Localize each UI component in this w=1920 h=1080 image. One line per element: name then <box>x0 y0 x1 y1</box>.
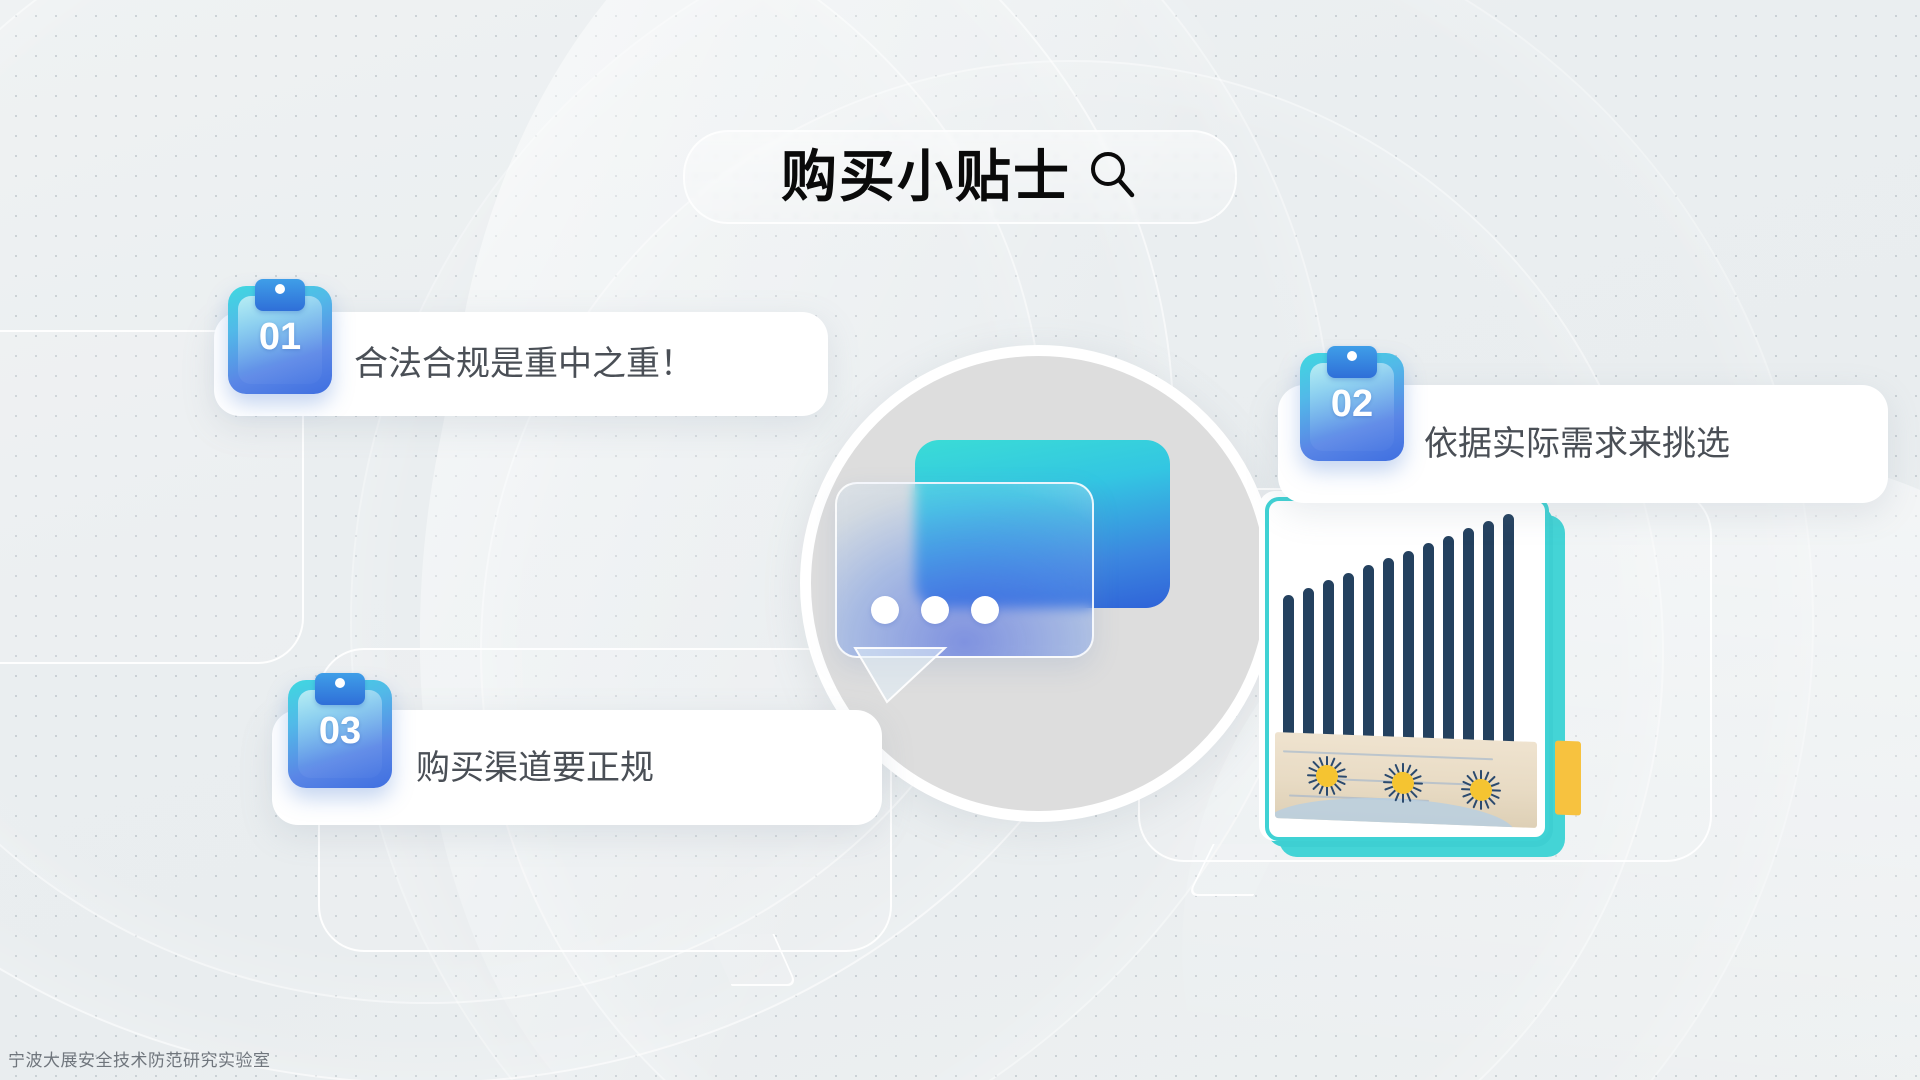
device-antenna-bar <box>1483 521 1494 745</box>
footer-watermark: 宁波大展安全技术防范研究实验室 <box>8 1046 271 1071</box>
clipboard-number: 01 <box>228 318 332 356</box>
device-flower-core <box>1392 771 1414 794</box>
device-antenna-bar <box>1343 573 1354 745</box>
page-title: 购买小贴士 <box>781 149 1071 205</box>
clipboard-icon-03: 03 <box>288 672 392 788</box>
clipboard-icon-02: 02 <box>1300 345 1404 461</box>
tip-card-label: 依据实际需求来挑选 <box>1424 427 1730 461</box>
device-antenna-bar <box>1303 588 1314 745</box>
device-antenna-bar <box>1283 595 1294 745</box>
clipboard-number: 02 <box>1300 385 1404 423</box>
clipboard-clip-dot <box>335 678 345 688</box>
typing-dots-icon <box>871 596 999 624</box>
device-antenna-bar <box>1323 580 1334 745</box>
antenna-device-illustration <box>1255 485 1585 875</box>
chat-bubble-illustration <box>835 440 1215 690</box>
tip-card-label: 合法合规是重中之重！ <box>354 347 694 381</box>
chat-bubble-tail <box>853 646 973 708</box>
slide-canvas: 购买小贴士 合法合规是重中之重！ 依据实际需求来挑选 购买渠道要正规 01 02 <box>0 0 1920 1080</box>
device-base-panel <box>1275 732 1537 828</box>
search-icon <box>1087 149 1139 206</box>
device-antenna-bar <box>1363 565 1374 745</box>
device-antenna-bar <box>1443 536 1454 745</box>
device-antenna-bar <box>1383 558 1394 745</box>
clipboard-clip-dot <box>1347 351 1357 361</box>
device-flower-core <box>1470 778 1492 801</box>
chat-bubble-front-card <box>835 482 1094 658</box>
device-antenna-bar <box>1423 543 1434 745</box>
device-flower-icon <box>1459 767 1503 813</box>
page-title-pill: 购买小贴士 <box>683 130 1237 224</box>
device-antenna-bar <box>1463 528 1474 745</box>
device-antenna-bars <box>1283 507 1527 745</box>
device-flower-core <box>1316 765 1338 788</box>
device-antenna-bar <box>1503 514 1514 745</box>
device-antenna-bar <box>1403 551 1414 745</box>
clipboard-clip-dot <box>275 284 285 294</box>
clipboard-icon-01: 01 <box>228 278 332 394</box>
device-flower-icon <box>1305 753 1349 799</box>
device-yellow-tab <box>1555 741 1581 816</box>
device-flower-icon <box>1381 760 1425 806</box>
clipboard-number: 03 <box>288 712 392 750</box>
tip-card-label: 购买渠道要正规 <box>416 751 654 785</box>
